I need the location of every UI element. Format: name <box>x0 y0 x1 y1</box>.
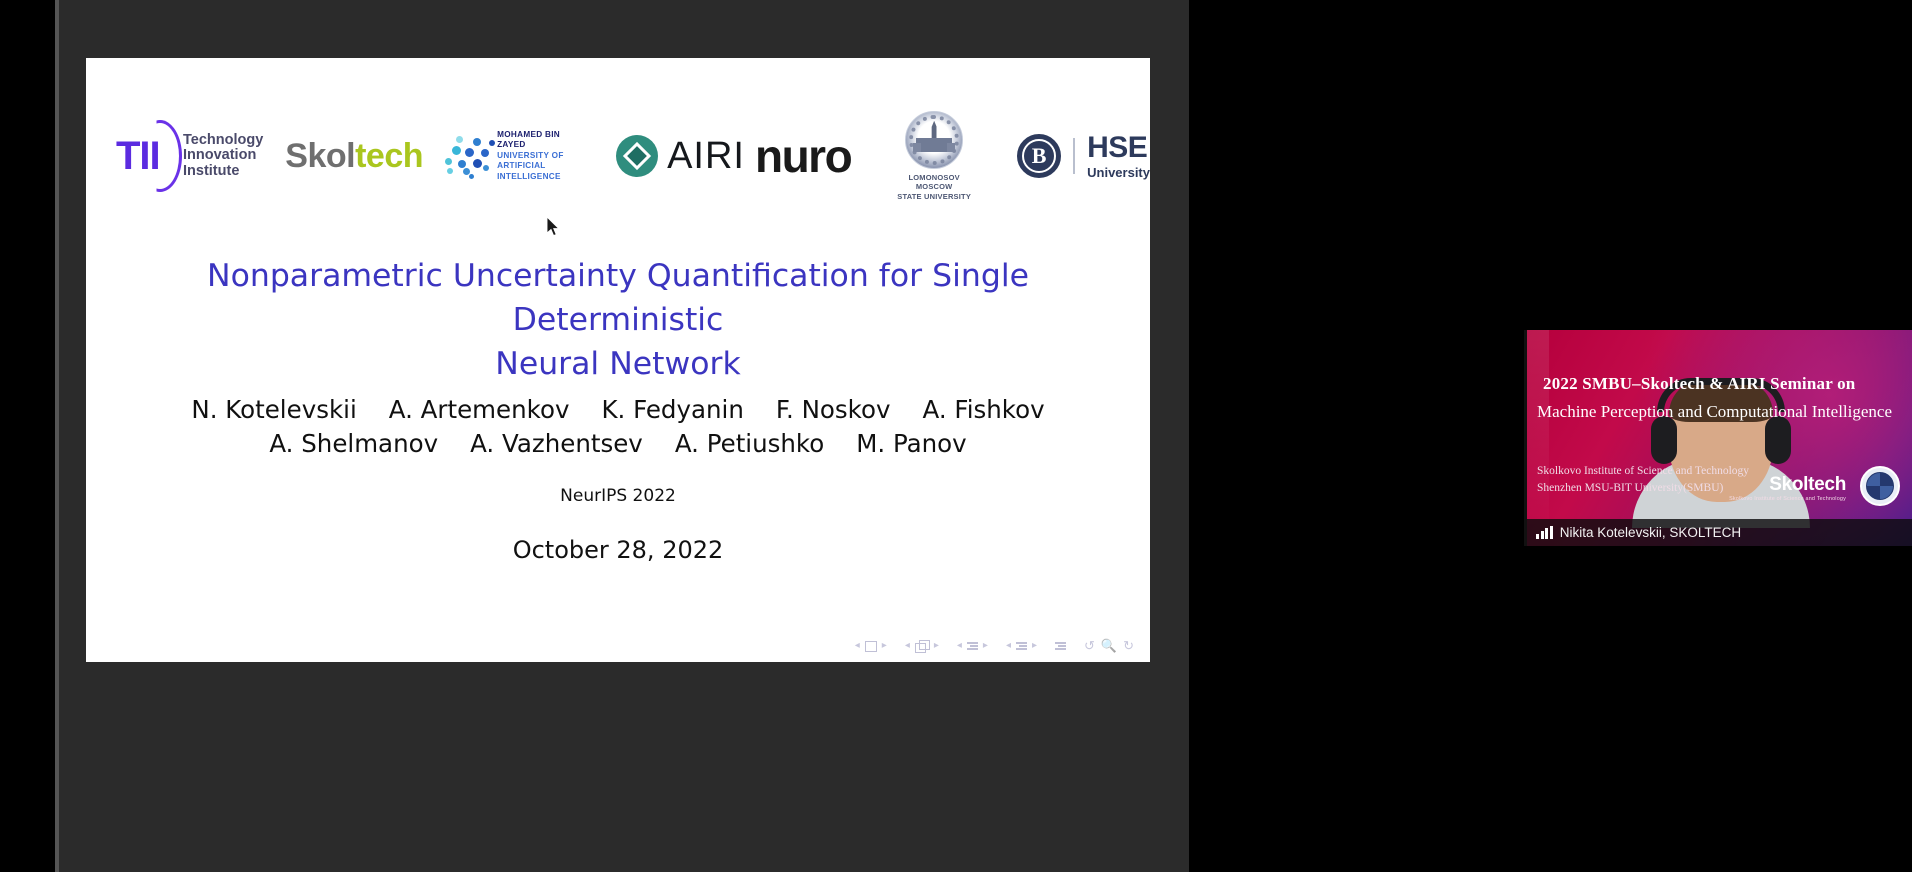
video-skoltech-wordmark: Skoltech <box>1729 474 1846 496</box>
msu-wordmark: LOMONOSOV MOSCOW STATE UNIVERSITY <box>897 173 971 202</box>
nav-subsection-group[interactable]: ◂ ▸ <box>957 641 988 651</box>
logo-airi: AIRI <box>616 135 745 178</box>
backdrop-edge <box>55 0 59 872</box>
headphone-left-icon <box>1651 416 1677 464</box>
author-name: M. Panov <box>856 427 966 461</box>
logo-nuro: nuro <box>755 129 851 183</box>
slide-title-line-1: Nonparametric Uncertainty Quantification… <box>146 254 1090 342</box>
slide-title-line-2: Neural Network <box>146 342 1090 386</box>
tii-line-1: Technology <box>183 133 263 149</box>
skoltech-part-1: Skol <box>285 137 355 175</box>
video-university-seal-icon <box>1860 466 1900 506</box>
tii-wordmark: Technology Innovation Institute <box>183 133 263 180</box>
sponsor-logo-row: TII Technology Innovation Institute Skol… <box>86 106 1150 206</box>
undo-icon[interactable]: ↺ <box>1084 638 1095 654</box>
nav-next-subsection-icon[interactable]: ▸ <box>983 641 988 651</box>
video-caption-bar: Nikita Kotelevskii, SKOLTECH <box>1527 519 1912 546</box>
nav-prev-subsection-icon[interactable]: ◂ <box>957 641 962 651</box>
search-icon[interactable]: 🔍 <box>1101 638 1117 654</box>
author-name: N. Kotelevskii <box>191 393 356 427</box>
tii-line-2: Innovation <box>183 148 263 164</box>
nav-prev-section-icon[interactable]: ◂ <box>1006 641 1011 651</box>
screen: TII Technology Innovation Institute Skol… <box>0 0 1912 872</box>
nav-frame-icon[interactable] <box>915 640 929 652</box>
mbzuai-line-3: ARTIFICIAL INTELLIGENCE <box>497 161 590 182</box>
logo-hse: В HSE University <box>1017 133 1150 179</box>
signal-strength-icon <box>1536 526 1553 539</box>
hse-subtitle: University <box>1087 166 1150 179</box>
tii-line-3: Institute <box>183 164 263 180</box>
airi-wordmark: AIRI <box>667 135 745 178</box>
nav-prev-frame-icon[interactable]: ◂ <box>905 641 910 651</box>
logo-skoltech: Skoltech <box>285 137 423 176</box>
presentation-slide[interactable]: TII Technology Innovation Institute Skol… <box>86 58 1150 662</box>
nav-next-section-icon[interactable]: ▸ <box>1032 641 1037 651</box>
video-banner-sub-1: Skolkovo Institute of Science and Techno… <box>1537 465 1749 477</box>
author-name: A. Petiushko <box>675 427 824 461</box>
nav-document-icon[interactable] <box>1055 642 1066 651</box>
hse-seal-icon: В <box>1017 134 1061 178</box>
logo-mbzuai: MOHAMED BIN ZAYED UNIVERSITY OF ARTIFICI… <box>443 130 590 183</box>
msu-seal-icon <box>905 111 963 169</box>
msu-line-1: LOMONOSOV MOSCOW <box>897 173 971 192</box>
nav-frame-group[interactable]: ◂ ▸ <box>905 640 939 652</box>
nuro-wordmark: nuro <box>755 129 851 183</box>
tii-mark-icon: TII <box>114 120 178 192</box>
video-light-band <box>1527 330 1549 546</box>
mbzuai-line-1: MOHAMED BIN ZAYED <box>497 130 590 151</box>
video-participant-name: Nikita Kotelevskii, SKOLTECH <box>1560 525 1741 540</box>
nav-tools-group[interactable]: ↺ 🔍 ↻ <box>1084 638 1134 654</box>
slide-title: Nonparametric Uncertainty Quantification… <box>146 254 1090 386</box>
mbzuai-dots-icon <box>443 132 490 180</box>
video-banner-title-1: 2022 SMBU–Skoltech & AIRI Seminar on <box>1543 374 1904 394</box>
nav-prev-slide-icon[interactable]: ◂ <box>855 641 860 651</box>
headphone-right-icon <box>1765 416 1791 464</box>
logo-tii: TII Technology Innovation Institute <box>114 120 263 192</box>
speaker-video-tile[interactable]: 2022 SMBU–Skoltech & AIRI Seminar on Mac… <box>1524 330 1912 546</box>
video-skoltech-tagline: Skolkovo Institute of Science and Techno… <box>1729 496 1846 502</box>
author-name: K. Fedyanin <box>601 393 743 427</box>
date-label: October 28, 2022 <box>86 536 1150 564</box>
mbzuai-wordmark: MOHAMED BIN ZAYED UNIVERSITY OF ARTIFICI… <box>497 130 590 183</box>
mouse-cursor <box>547 217 561 237</box>
logo-msu: LOMONOSOV MOSCOW STATE UNIVERSITY <box>897 111 971 202</box>
nav-section-group[interactable]: ◂ ▸ <box>1006 641 1037 651</box>
nav-slide-icon[interactable] <box>865 641 877 652</box>
airi-diamond-icon <box>616 135 658 177</box>
hse-glyph: В <box>1032 143 1047 169</box>
redo-icon[interactable]: ↻ <box>1123 638 1134 654</box>
mbzuai-line-2: UNIVERSITY OF <box>497 151 590 162</box>
author-row-2: A. ShelmanovA. VazhentsevA. PetiushkoM. … <box>146 427 1090 461</box>
author-row-1: N. KotelevskiiA. ArtemenkovK. FedyaninF.… <box>146 393 1090 427</box>
video-banner-title-2: Machine Perception and Computational Int… <box>1537 402 1908 422</box>
nav-next-slide-icon[interactable]: ▸ <box>882 641 887 651</box>
venue-label: NeurIPS 2022 <box>86 486 1150 506</box>
video-banner-sub-2: Shenzhen MSU-BIT University(SMBU) <box>1537 482 1723 494</box>
video-skoltech-logo: Skoltech Skolkovo Institute of Science a… <box>1729 474 1846 502</box>
nav-subsection-icon[interactable] <box>967 642 978 651</box>
author-name: A. Fishkov <box>922 393 1044 427</box>
nav-slide-group[interactable]: ◂ ▸ <box>855 641 887 652</box>
msu-line-2: STATE UNIVERSITY <box>897 192 971 202</box>
hse-wordmark: HSE <box>1087 133 1150 163</box>
author-name: F. Noskov <box>776 393 891 427</box>
beamer-navigation-bar[interactable]: ◂ ▸ ◂ ▸ ◂ ▸ ◂ ▸ ↺ <box>86 636 1134 656</box>
skoltech-part-2: tech <box>355 137 423 175</box>
author-name: A. Shelmanov <box>269 427 438 461</box>
author-list: N. KotelevskiiA. ArtemenkovK. FedyaninF.… <box>146 393 1090 461</box>
author-name: A. Artemenkov <box>389 393 570 427</box>
nav-document-group[interactable] <box>1055 642 1066 651</box>
hse-divider <box>1073 138 1075 174</box>
author-name: A. Vazhentsev <box>470 427 643 461</box>
nav-section-icon[interactable] <box>1016 642 1027 651</box>
nav-next-frame-icon[interactable]: ▸ <box>934 641 939 651</box>
